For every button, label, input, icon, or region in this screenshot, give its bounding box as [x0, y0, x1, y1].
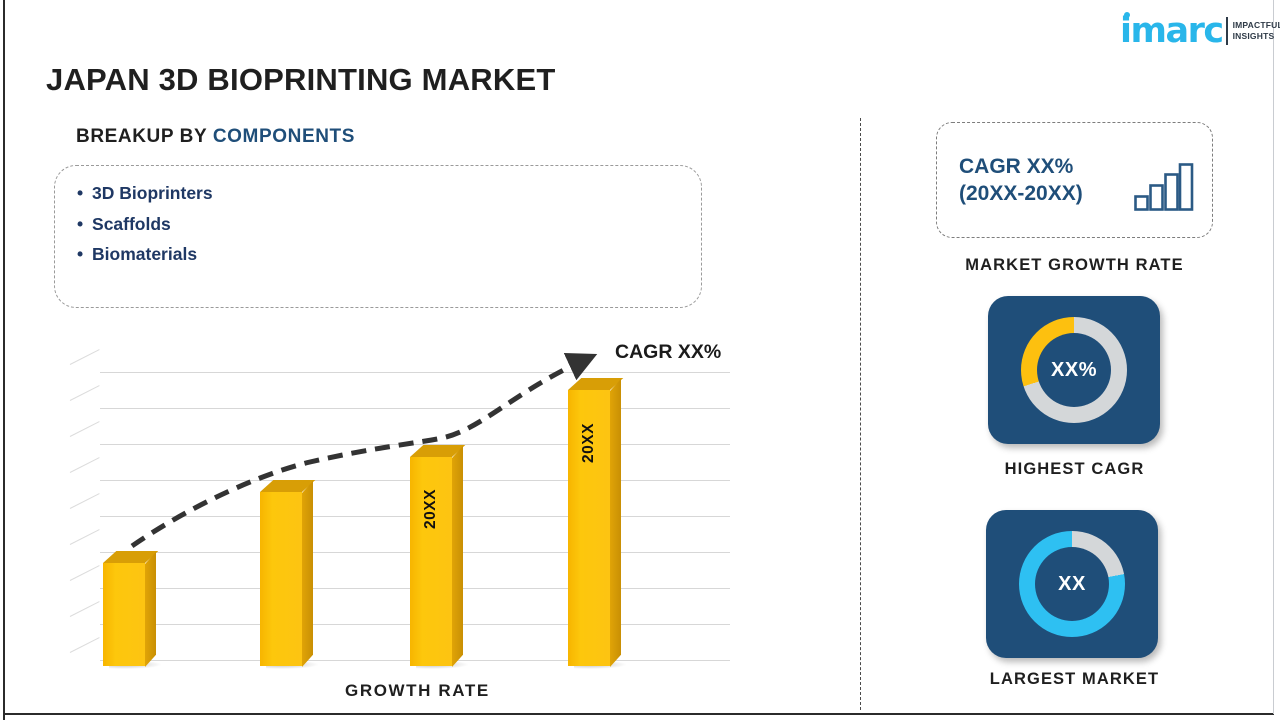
gridline	[70, 552, 730, 553]
chart-bar: 20XX	[410, 446, 463, 666]
logo-wordmark-text: imarc	[1120, 11, 1223, 51]
highest-cagr-value: XX%	[1051, 359, 1097, 382]
bar-front	[103, 563, 145, 666]
infographic-page: imarc IMPACTFUL INSIGHTS JAPAN 3D BIOPRI…	[0, 0, 1280, 720]
chart-bar	[260, 481, 313, 666]
chart-bar: 20XX	[568, 379, 621, 666]
chart-axis-label: GROWTH RATE	[345, 681, 490, 701]
largest-market-value: XX	[1058, 573, 1086, 596]
bar-side	[610, 379, 621, 667]
market-growth-rate-caption: MARKET GROWTH RATE	[936, 256, 1213, 275]
largest-market-caption: LARGEST MARKET	[936, 670, 1213, 689]
list-item-label: Scaffolds	[92, 214, 171, 234]
largest-market-tile: XX	[986, 510, 1158, 658]
components-list: • 3D Bioprinters • Scaffolds • Biomateri…	[77, 178, 213, 270]
breakup-heading: BREAKUP BY COMPONENTS	[76, 126, 355, 148]
bar-side	[302, 481, 313, 667]
highest-cagr-tile: XX%	[988, 296, 1160, 444]
market-growth-rate-card: CAGR XX% (20XX-20XX)	[936, 122, 1213, 238]
page-border-bottom	[3, 713, 1274, 715]
gridline	[70, 660, 730, 661]
gridline	[70, 408, 730, 409]
chart-bar	[103, 552, 156, 666]
highest-cagr-donut: XX%	[1021, 317, 1127, 423]
gridline	[70, 480, 730, 481]
list-item-label: Biomaterials	[92, 244, 197, 264]
gridline	[70, 588, 730, 589]
gridline	[70, 624, 730, 625]
list-item: • Scaffolds	[77, 209, 213, 240]
list-item: • Biomaterials	[77, 239, 213, 270]
highest-cagr-caption: HIGHEST CAGR	[936, 460, 1213, 479]
logo-tagline-line1: IMPACTFUL	[1233, 20, 1280, 31]
list-item-label: 3D Bioprinters	[92, 183, 213, 203]
breakup-heading-accent: COMPONENTS	[213, 126, 355, 147]
logo-dot-icon	[1124, 12, 1130, 18]
logo-divider	[1226, 17, 1228, 45]
breakup-heading-prefix: BREAKUP BY	[76, 126, 207, 147]
chart-gridlines	[70, 372, 730, 662]
bullet-icon: •	[77, 244, 83, 264]
bar-front	[260, 492, 302, 666]
components-panel: • 3D Bioprinters • Scaffolds • Biomateri…	[54, 165, 702, 308]
cagr-line1: CAGR XX%	[959, 153, 1083, 180]
chart-cagr-annotation: CAGR XX%	[615, 341, 721, 364]
gridline	[70, 516, 730, 517]
market-growth-rate-value: CAGR XX% (20XX-20XX)	[959, 153, 1083, 207]
largest-market-donut: XX	[1019, 531, 1125, 637]
bar-value-label: 20XX	[422, 480, 440, 538]
gridline	[70, 372, 730, 373]
cagr-line2: (20XX-20XX)	[959, 180, 1083, 207]
page-border-right	[1273, 0, 1274, 714]
page-border-left	[3, 0, 5, 720]
bar-side	[452, 446, 463, 667]
page-title: JAPAN 3D BIOPRINTING MARKET	[46, 62, 555, 98]
gridline	[70, 444, 730, 445]
logo-wordmark: imarc	[1118, 14, 1223, 48]
vertical-divider	[860, 118, 861, 710]
donut-center: XX%	[1037, 333, 1111, 407]
bar-side	[145, 552, 156, 667]
logo-tagline: IMPACTFUL INSIGHTS	[1233, 20, 1280, 42]
list-item: • 3D Bioprinters	[77, 178, 213, 209]
logo-tagline-line2: INSIGHTS	[1233, 31, 1280, 42]
donut-center: XX	[1035, 547, 1109, 621]
bullet-icon: •	[77, 183, 83, 203]
growth-rate-chart: 20XX 20XX	[60, 330, 740, 710]
bullet-icon: •	[77, 214, 83, 234]
bar-value-label: 20XX	[580, 414, 598, 472]
imarc-logo: imarc IMPACTFUL INSIGHTS	[1118, 14, 1280, 48]
bar-chart-icon	[1134, 163, 1194, 211]
